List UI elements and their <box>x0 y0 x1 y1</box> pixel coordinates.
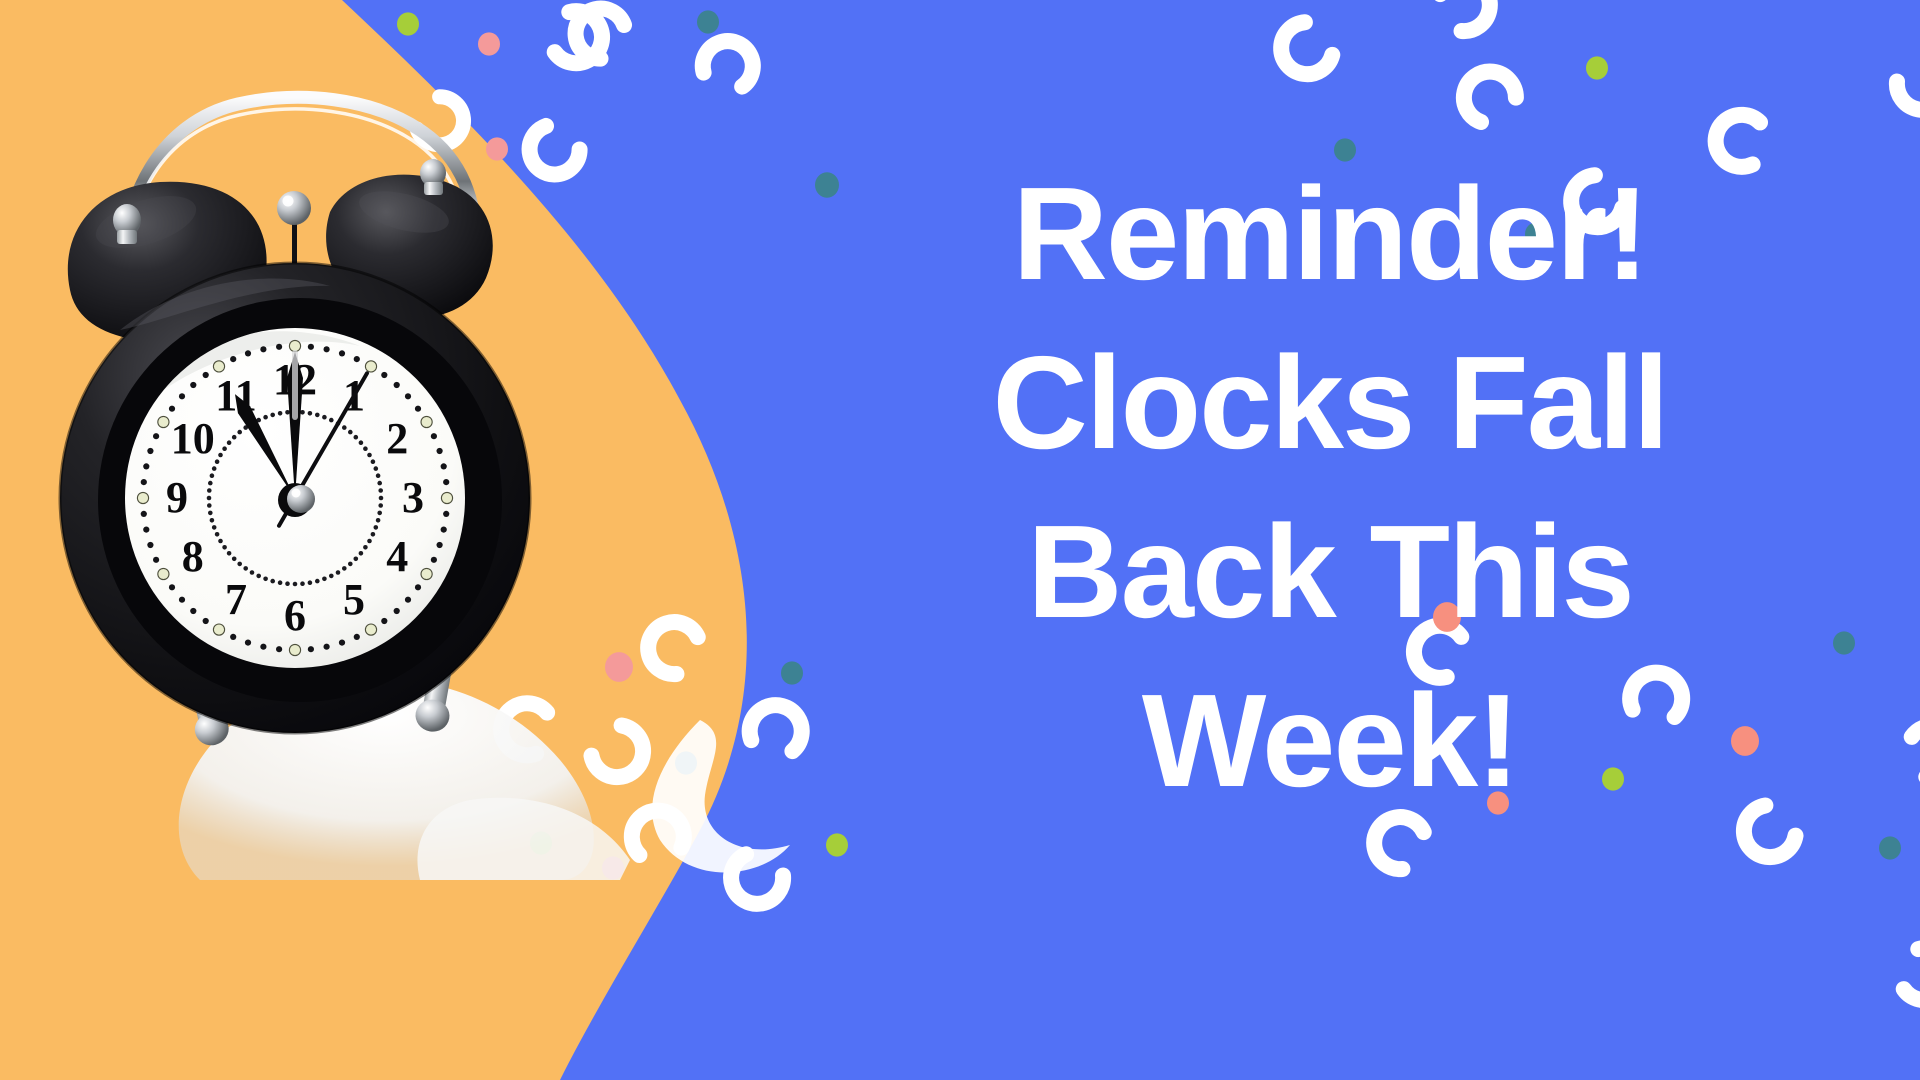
clock-numeral: 5 <box>343 575 365 624</box>
clock-inner-dot <box>354 435 359 440</box>
clock-tick-dot <box>437 448 443 454</box>
clock-luminous-dot <box>289 340 300 351</box>
clock-inner-dot <box>250 570 255 575</box>
clock-tick-dot <box>415 406 421 412</box>
clock-tick-dot <box>230 356 236 362</box>
clock-inner-dot <box>315 413 320 418</box>
clock-inner-dot <box>322 415 327 420</box>
clock-tick-dot <box>381 618 387 624</box>
clock-numeral: 7 <box>225 575 247 624</box>
clock-inner-dot <box>377 511 382 516</box>
clock-tick-dot <box>339 640 345 646</box>
clock-inner-dot <box>379 496 384 501</box>
clock-tick-dot <box>260 346 266 352</box>
clock-inner-dot <box>270 413 275 418</box>
clock-tick-dot <box>190 382 196 388</box>
clock-inner-dot <box>227 551 232 556</box>
clock-tick-dot <box>443 511 449 517</box>
clock-inner-dot <box>256 574 261 579</box>
clock-tick-dot <box>141 511 147 517</box>
clock-tick-dot <box>308 344 314 350</box>
clock-numeral: 6 <box>284 591 306 640</box>
clock-tick-dot <box>431 557 437 563</box>
clock-tick-dot <box>147 448 153 454</box>
clock-tick-dot <box>169 406 175 412</box>
clock-inner-dot <box>243 566 248 571</box>
clock-inner-dot <box>322 577 327 582</box>
clock-tick-dot <box>147 542 153 548</box>
clock-tick-dot <box>405 597 411 603</box>
clock-tick-dot <box>354 356 360 362</box>
clock-inner-dot <box>222 545 227 550</box>
clock-inner-dot <box>363 545 368 550</box>
clock-inner-dot <box>218 539 223 544</box>
clock-inner-dot <box>232 557 237 562</box>
clock-numeral: 3 <box>402 473 424 522</box>
clock-tick-dot <box>190 608 196 614</box>
clock-inner-dot <box>218 453 223 458</box>
clock-tick-dot <box>394 608 400 614</box>
clock-tick-dot <box>441 463 447 469</box>
clock-numeral: 9 <box>166 473 188 522</box>
clock-inner-dot <box>270 579 275 584</box>
clock-tick-dot <box>308 646 314 652</box>
clock-luminous-dot <box>421 416 432 427</box>
clock-inner-dot <box>208 511 213 516</box>
clock-luminous-dot <box>421 568 432 579</box>
clock-numeral: 2 <box>386 414 408 463</box>
clock-inner-dot <box>263 577 268 582</box>
clock-inner-dot <box>329 418 334 423</box>
clock-tick-dot <box>324 346 330 352</box>
clock-inner-dot <box>308 580 313 585</box>
clock-inner-dot <box>371 459 376 464</box>
clock-tick-dot <box>437 542 443 548</box>
clock-inner-dot <box>367 453 372 458</box>
clock-inner-dot <box>359 551 364 556</box>
clock-inner-dot <box>348 562 353 567</box>
clock-inner-dot <box>207 503 212 508</box>
clock-tick-dot <box>394 382 400 388</box>
clock-inner-dot <box>348 430 353 435</box>
clock-inner-dot <box>376 518 381 523</box>
alarm-clock-photo: 121234567891011 <box>0 0 1920 1080</box>
clock-inner-dot <box>278 411 283 416</box>
clock-inner-dot <box>376 473 381 478</box>
clock-tick-dot <box>324 644 330 650</box>
clock-inner-dot <box>285 410 290 415</box>
clock-inner-dot <box>222 446 227 451</box>
clock-tick-dot <box>339 350 345 356</box>
clock-inner-dot <box>212 525 217 530</box>
clock-tick-dot <box>143 527 149 533</box>
clock-inner-dot <box>285 581 290 586</box>
clock-tick-dot <box>245 350 251 356</box>
clock-inner-dot <box>374 525 379 530</box>
clock-tick-dot <box>354 634 360 640</box>
clock-tick-dot <box>405 393 411 399</box>
clock-inner-dot <box>215 532 220 537</box>
clock-inner-dot <box>336 570 341 575</box>
clock-tick-dot <box>230 634 236 640</box>
clock-inner-dot <box>207 496 212 501</box>
clock-inner-dot <box>329 574 334 579</box>
clock-inner-dot <box>371 532 376 537</box>
clock-tick-dot <box>179 597 185 603</box>
clock-inner-dot <box>300 581 305 586</box>
clock-inner-dot <box>210 518 215 523</box>
clock-inner-dot <box>212 466 217 471</box>
clock-face: 121234567891011 <box>125 328 465 668</box>
clock-tick-dot <box>169 584 175 590</box>
clock-inner-dot <box>378 503 383 508</box>
banner-canvas: 121234567891011 Reminder! <box>0 0 1920 1080</box>
clock-tick-dot <box>179 393 185 399</box>
clock-inner-dot <box>374 466 379 471</box>
clock-inner-dot <box>354 557 359 562</box>
clock-tick-dot <box>245 640 251 646</box>
clock-inner-dot <box>377 481 382 486</box>
clock-inner-dot <box>232 435 237 440</box>
clock-tick-dot <box>260 644 266 650</box>
clock-tick-dot <box>143 463 149 469</box>
clock-tick-dot <box>431 433 437 439</box>
clock-numeral: 10 <box>171 414 215 463</box>
clock-luminous-dot <box>289 644 300 655</box>
clock-inner-dot <box>378 488 383 493</box>
clock-inner-dot <box>300 410 305 415</box>
clock-inner-dot <box>237 562 242 567</box>
clock-inner-dot <box>227 440 232 445</box>
clock-luminous-dot <box>365 624 376 635</box>
clock-tick-dot <box>203 372 209 378</box>
clock-inner-dot <box>215 459 220 464</box>
clock-numeral: 8 <box>182 532 204 581</box>
clock-inner-dot <box>315 579 320 584</box>
clock-tick-dot <box>153 433 159 439</box>
clock-luminous-dot <box>158 568 169 579</box>
clock-inner-dot <box>237 430 242 435</box>
clock-inner-dot <box>367 539 372 544</box>
clock-inner-dot <box>208 481 213 486</box>
clock-luminous-dot <box>365 361 376 372</box>
clock-tick-dot <box>443 479 449 485</box>
clock-luminous-dot <box>158 416 169 427</box>
clock-inner-dot <box>342 425 347 430</box>
clock-tick-dot <box>441 527 447 533</box>
clock-luminous-dot <box>213 624 224 635</box>
clock-inner-dot <box>308 411 313 416</box>
clock-inner-dot <box>278 580 283 585</box>
clock-luminous-dot <box>137 492 148 503</box>
clock-tick-dot <box>141 479 147 485</box>
clock-tick-dot <box>415 584 421 590</box>
clock-inner-dot <box>263 415 268 420</box>
clock-numeral: 4 <box>386 532 408 581</box>
clock-inner-dot <box>210 473 215 478</box>
clock-tick-dot <box>276 344 282 350</box>
clock-inner-dot <box>359 440 364 445</box>
clock-tick-dot <box>153 557 159 563</box>
clock-tick-dot <box>276 646 282 652</box>
clock-tick-dot <box>381 372 387 378</box>
clock-inner-dot <box>293 582 298 587</box>
clock-tick-dot <box>203 618 209 624</box>
clock-inner-dot <box>342 566 347 571</box>
clock-luminous-dot <box>441 492 452 503</box>
clock-inner-dot <box>363 446 368 451</box>
clock-inner-dot <box>207 488 212 493</box>
